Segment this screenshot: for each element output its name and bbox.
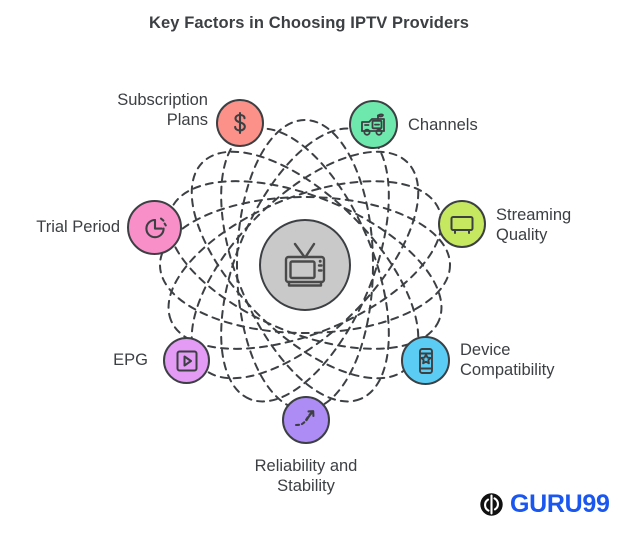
node-reliability-and-stability[interactable] bbox=[282, 396, 330, 444]
guru99-g-logo bbox=[479, 492, 504, 517]
node-channels[interactable] bbox=[349, 100, 398, 149]
trend-up-arrow-icon bbox=[292, 407, 320, 433]
label-subscription-plans: Subscription Plans bbox=[58, 90, 208, 130]
label-device-compatibility: Device Compatibility bbox=[460, 340, 610, 380]
node-trial-period[interactable] bbox=[127, 200, 182, 255]
monitor-screen-icon bbox=[448, 212, 476, 236]
television-indicator-dot bbox=[319, 260, 322, 263]
dollar-sign-icon bbox=[227, 110, 253, 136]
label-reliability-and-stability: Reliability and Stability bbox=[216, 456, 396, 496]
play-button-square-icon bbox=[174, 348, 200, 374]
broadcast-van-icon bbox=[359, 111, 389, 139]
guru99-logo: GURU99 bbox=[479, 492, 610, 517]
page-title: Key Factors in Choosing IPTV Providers bbox=[0, 14, 618, 33]
node-device-compatibility[interactable] bbox=[401, 336, 450, 385]
node-subscription-plans[interactable] bbox=[216, 99, 264, 147]
stopwatch-icon bbox=[140, 213, 170, 243]
television-icon bbox=[277, 240, 333, 290]
guru99-wordmark: GURU99 bbox=[510, 492, 610, 517]
label-streaming-quality: Streaming Quality bbox=[496, 205, 618, 245]
node-epg[interactable] bbox=[163, 337, 210, 384]
label-trial-period: Trial Period bbox=[10, 217, 120, 237]
label-channels: Channels bbox=[408, 115, 548, 135]
center-node-television[interactable] bbox=[259, 219, 351, 311]
label-epg: EPG bbox=[48, 350, 148, 370]
smartphone-icon bbox=[415, 346, 437, 376]
node-streaming-quality[interactable] bbox=[438, 200, 486, 248]
